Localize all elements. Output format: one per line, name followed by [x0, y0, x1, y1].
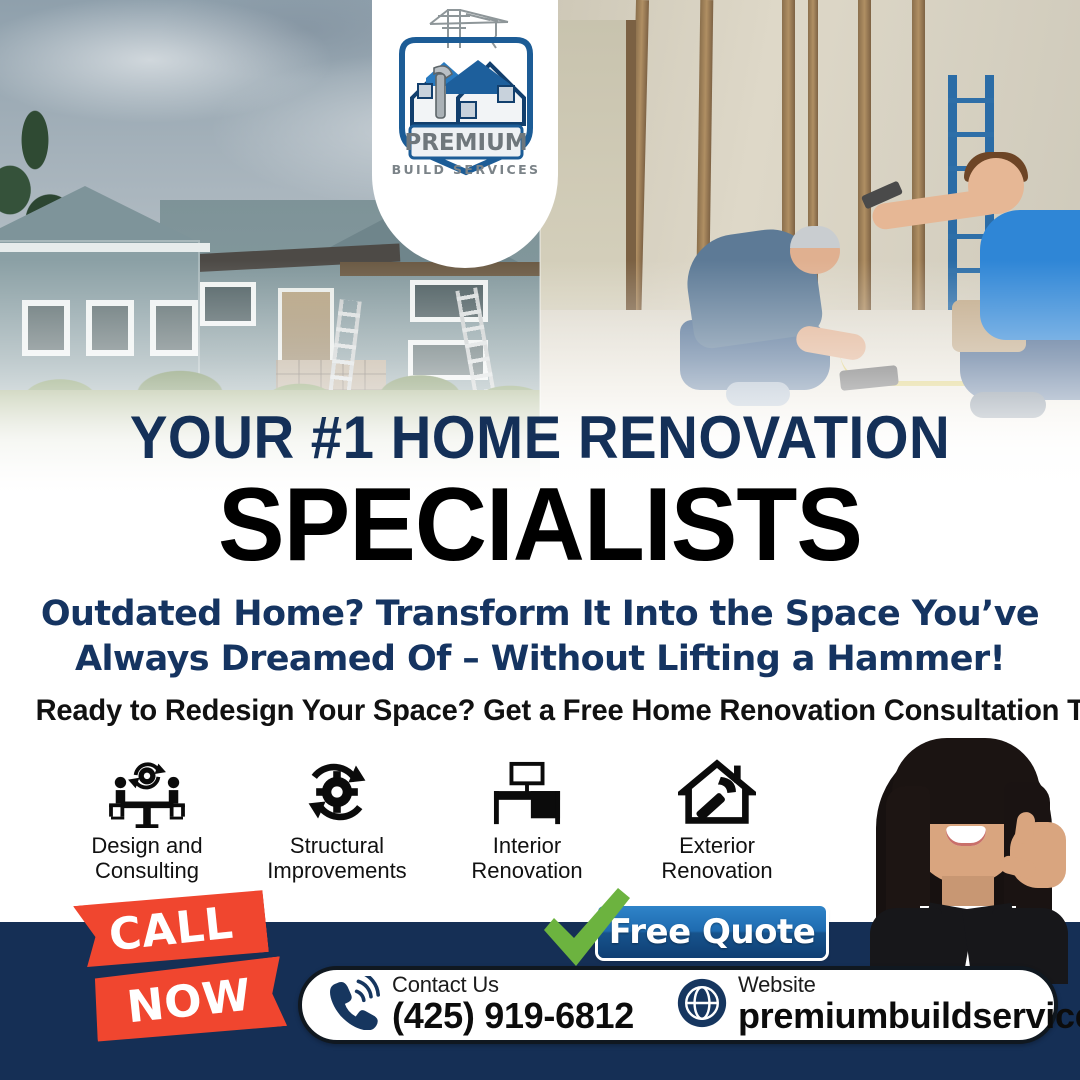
interior-renovation-icon: [432, 752, 622, 828]
green-checkmark-icon: [538, 886, 634, 972]
service-item-interior-renovation[interactable]: Interior Renovation: [432, 752, 622, 902]
exterior-renovation-icon: [622, 752, 812, 828]
headline-line-2: SPECIALISTS: [22, 472, 1059, 578]
service-label: Structural Improvements: [242, 834, 432, 883]
structural-improvements-icon: [242, 752, 432, 828]
contact-bar: Contact Us (425) 919-6812 Website premiu…: [298, 966, 1058, 1044]
consultant-photo: [862, 730, 1072, 980]
globe-icon: [676, 977, 728, 1034]
website-url[interactable]: premiumbuildservices.com: [738, 996, 1080, 1036]
service-item-design-consulting[interactable]: Design and Consulting: [52, 752, 242, 902]
contact-website-group[interactable]: Website premiumbuildservices.com: [676, 974, 1080, 1036]
worker-one-shoe: [726, 382, 790, 406]
worker-two-head: [968, 158, 1024, 214]
logo-tagline: BUILD SERVICES: [392, 162, 541, 177]
wall-stud: [858, 0, 871, 310]
advertisement-canvas: PREMIUM BUILD SERVICES YOUR #1 HOME RENO…: [0, 0, 1080, 1080]
contact-us-label: Contact Us: [392, 974, 634, 996]
subheading: Outdated Home? Transform It Into the Spa…: [40, 592, 1040, 682]
website-label: Website: [738, 974, 1080, 996]
service-label: Exterior Renovation: [622, 834, 812, 883]
free-quote-label: Free Quote: [609, 912, 816, 952]
left-wing-trim: [0, 243, 210, 252]
free-quote-cta[interactable]: Free Quote: [538, 900, 766, 952]
wall-stud: [912, 0, 925, 330]
design-consulting-icon: [52, 752, 242, 828]
tagline: Ready to Redesign Your Space? Get a Free…: [36, 694, 1045, 728]
headline-block: YOUR #1 HOME RENOVATION SPECIALISTS: [0, 408, 1080, 578]
headline-line-1: YOUR #1 HOME RENOVATION: [32, 408, 1047, 468]
premium-build-services-logo: PREMIUM BUILD SERVICES: [386, 2, 546, 208]
service-item-structural-improvements[interactable]: Structural Improvements: [242, 752, 432, 902]
now-ribbon-label: NOW: [125, 969, 254, 1033]
service-label: Design and Consulting: [52, 834, 242, 883]
left-wing-gable: [0, 186, 210, 248]
services-row: Design and Consulting: [52, 752, 812, 902]
call-ribbon-label: CALL: [106, 897, 235, 961]
service-item-exterior-renovation[interactable]: Exterior Renovation: [622, 752, 812, 902]
worker-two-torso: [980, 210, 1080, 340]
phone-number[interactable]: (425) 919-6812: [392, 996, 634, 1036]
logo-wordmark: PREMIUM: [404, 130, 527, 156]
contact-phone-group[interactable]: Contact Us (425) 919-6812: [324, 974, 634, 1036]
phone-icon: [324, 976, 382, 1035]
service-label: Interior Renovation: [432, 834, 622, 883]
